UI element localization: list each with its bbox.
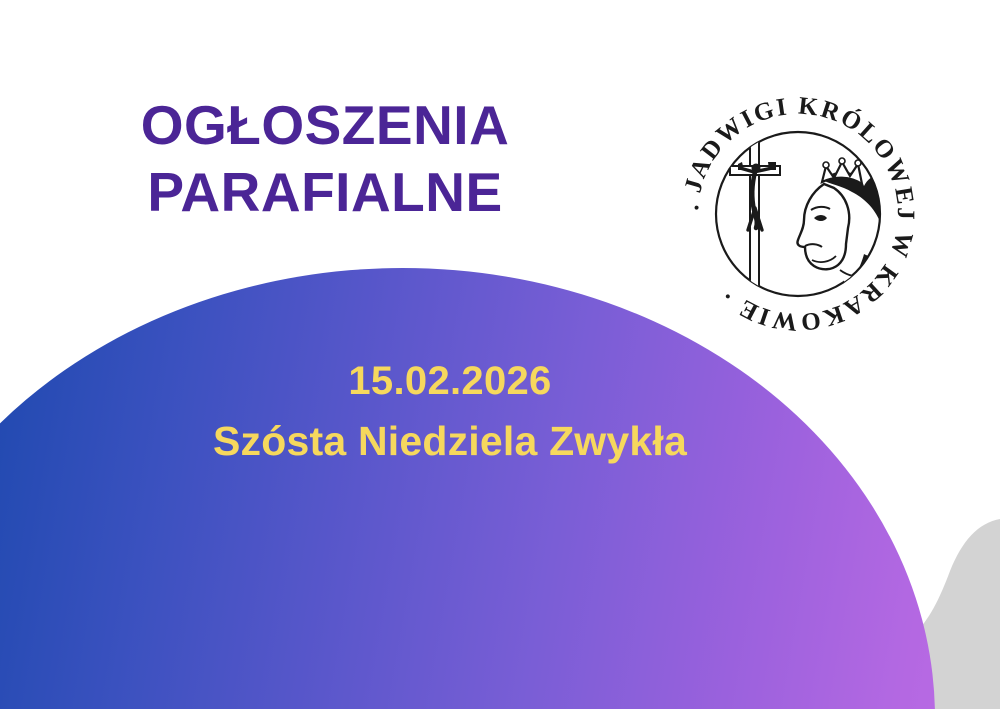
crucifix-icon <box>730 140 780 308</box>
date-block: 15.02.2026 Szósta Niedziela Zwykła <box>0 358 900 466</box>
page-title-line-2: PARAFIALNE <box>0 159 650 226</box>
page-title-line-1: OGŁOSZENIA <box>0 92 650 159</box>
announcement-poster: OGŁOSZENIA PARAFIALNE 15.02.2026 Szósta … <box>0 0 1000 709</box>
page-title: OGŁOSZENIA PARAFIALNE <box>0 92 650 226</box>
parish-seal-logo: PARAFIA ŚW. JADWIGI KRÓLOWEJ W KRAKOWIE … <box>672 88 924 340</box>
seal-inner-circle <box>716 132 880 296</box>
liturgical-season: Szósta Niedziela Zwykła <box>0 417 900 465</box>
seal-ring-text: PARAFIA ŚW. JADWIGI KRÓLOWEJ W KRAKOWIE … <box>672 88 919 336</box>
announcement-date: 15.02.2026 <box>0 358 900 405</box>
